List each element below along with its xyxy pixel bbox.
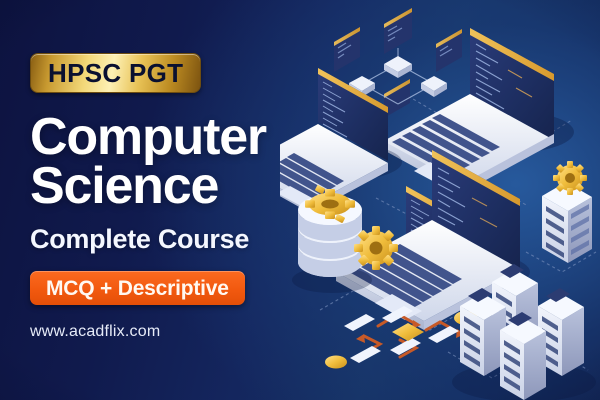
course-poster: HPSC PGT Computer Science Complete Cours… xyxy=(0,0,600,400)
website-url: www.acadflix.com xyxy=(30,323,360,341)
page-title: Computer Science xyxy=(30,113,360,211)
poster-text-content: HPSC PGT Computer Science Complete Cours… xyxy=(30,0,360,400)
page-title-line-2: Science xyxy=(30,162,360,211)
exam-badge-label: HPSC PGT xyxy=(48,60,183,86)
laptop-top-right xyxy=(378,28,574,193)
server-rack-single xyxy=(542,161,592,263)
page-subtitle: Complete Course xyxy=(30,224,360,255)
page-title-line-1: Computer xyxy=(30,113,360,162)
format-badge-label: MCQ + Descriptive xyxy=(46,278,229,299)
gear-large xyxy=(354,226,398,270)
format-badge: MCQ + Descriptive xyxy=(30,271,245,305)
exam-badge: HPSC PGT xyxy=(30,53,201,93)
